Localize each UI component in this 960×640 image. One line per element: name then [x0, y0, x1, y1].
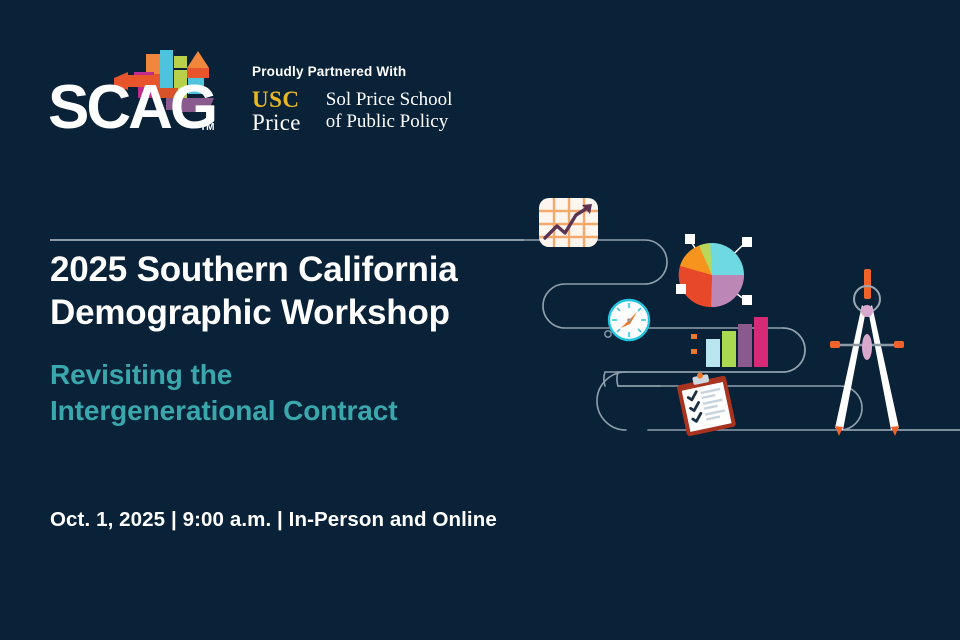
partner-logo-block[interactable]: Proudly Partnered With USC Price Sol Pri…	[252, 64, 452, 136]
title-divider-rule	[50, 239, 524, 241]
pie-chart-icon	[676, 234, 752, 307]
title-block: 2025 Southern California Demographic Wor…	[50, 248, 520, 428]
scag-wordmark: SCAG	[48, 73, 215, 138]
usc-word: USC	[252, 88, 301, 111]
usc-price-lockup: USC Price Sol Price School of Public Pol…	[252, 88, 452, 135]
event-subtitle-line-2: Intergenerational Contract	[50, 395, 397, 426]
poster-canvas: SCAG TM Proudly Partnered With USC Price…	[0, 0, 960, 640]
partner-tagline: Proudly Partnered With	[252, 64, 452, 79]
serpentine-route-line	[520, 240, 960, 430]
page-title: 2025 Southern California Demographic Wor…	[50, 248, 520, 335]
drafting-compass-icon	[830, 269, 904, 436]
event-details: Oct. 1, 2025 | 9:00 a.m. | In-Person and…	[50, 508, 497, 532]
usc-price-mark: USC Price	[252, 88, 313, 135]
usc-school-line-1: Sol Price School	[326, 89, 453, 111]
scag-trademark: TM	[200, 122, 214, 133]
scag-logo-svg: SCAG TM	[48, 42, 218, 138]
bar-chart-icon	[691, 317, 768, 367]
header-logo-bar: SCAG TM Proudly Partnered With USC Price…	[0, 0, 960, 160]
usc-school-name: Sol Price School of Public Policy	[313, 89, 453, 133]
event-subtitle: Revisiting the Intergenerational Contrac…	[50, 357, 520, 429]
clipboard-checklist-icon	[675, 368, 736, 437]
event-title-line-1: 2025 Southern California	[50, 250, 458, 289]
usc-school-line-2: of Public Policy	[326, 111, 453, 133]
line-chart-card-icon	[539, 198, 598, 247]
scag-logo[interactable]: SCAG TM	[48, 42, 218, 138]
compass-dial-icon	[605, 300, 649, 340]
price-word: Price	[252, 111, 301, 134]
event-title-line-2: Demographic Workshop	[50, 293, 450, 332]
event-subtitle-line-1: Revisiting the	[50, 359, 232, 390]
